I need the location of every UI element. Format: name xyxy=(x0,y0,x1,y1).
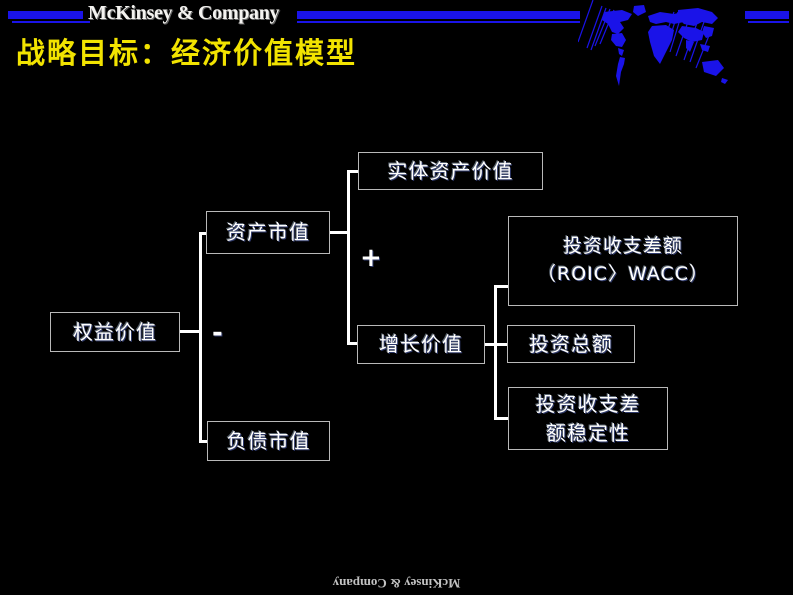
node-total-investment[interactable]: 投资总额 xyxy=(507,325,635,363)
node-spread-stability[interactable]: 投资收支差 额稳定性 xyxy=(508,387,668,450)
node-tangible-asset-value[interactable]: 实体资产价值 xyxy=(358,152,543,190)
slide-canvas: McKinsey & Company xyxy=(0,0,793,595)
node-investment-spread[interactable]: 投资收支差额 （ROIC〉WACC） xyxy=(508,216,738,306)
node-equity-value[interactable]: 权益价值 xyxy=(50,312,180,352)
connector-asset-bracket xyxy=(347,170,350,345)
operator-plus: + xyxy=(360,243,382,273)
node-growth-value[interactable]: 增长价值 xyxy=(357,325,485,364)
connector-root-bracket xyxy=(199,232,202,442)
economic-value-model-diagram: 权益价值 - 资产市值 负债市值 + 实体资产价值 增长价值 投资收支差额 （R… xyxy=(0,0,793,595)
operator-minus: - xyxy=(212,318,223,348)
node-debt-market-value[interactable]: 负债市值 xyxy=(207,421,330,461)
footer-watermark: McKinsey & Company xyxy=(0,575,793,591)
connector-growth-bracket xyxy=(494,285,497,419)
node-asset-market-value[interactable]: 资产市值 xyxy=(206,211,330,254)
